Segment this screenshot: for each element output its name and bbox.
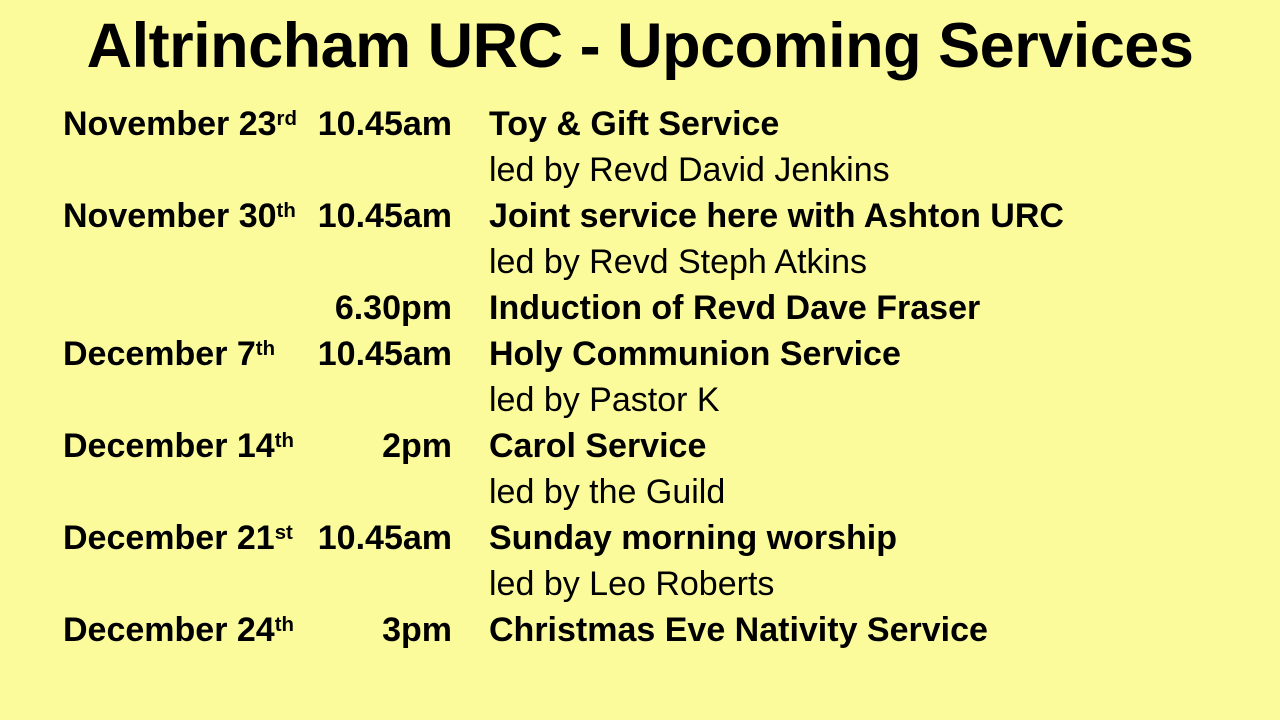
service-details: Carol Serviceled by the Guild: [452, 423, 1280, 515]
service-row: December 7th10.45amHoly Communion Servic…: [0, 331, 1280, 423]
service-date-ordinal: th: [256, 338, 275, 360]
service-row: December 14th2pmCarol Serviceled by the …: [0, 423, 1280, 515]
service-row: December 24th3pmChristmas Eve Nativity S…: [0, 607, 1280, 658]
service-date-ordinal: th: [277, 200, 296, 222]
service-details: Holy Communion Serviceled by Pastor K: [452, 331, 1280, 423]
service-name: Induction of Revd Dave Fraser: [489, 285, 1280, 331]
service-date: December 21st: [0, 515, 300, 566]
service-details: Joint service here with Ashton URCled by…: [452, 193, 1280, 285]
service-row: November 30th10.45amJoint service here w…: [0, 193, 1280, 285]
service-row: 6.30pmInduction of Revd Dave Fraser: [0, 285, 1280, 331]
service-date: December 14th: [0, 423, 300, 474]
service-date: November 30th: [0, 193, 300, 244]
service-date-ordinal: th: [275, 614, 294, 636]
service-time: 10.45am: [300, 193, 452, 239]
service-date: November 23rd: [0, 101, 300, 152]
service-date: December 24th: [0, 607, 300, 658]
service-date-ordinal: st: [275, 522, 293, 544]
service-name: Sunday morning worship: [489, 515, 1280, 561]
service-name: Holy Communion Service: [489, 331, 1280, 377]
service-date-text: December 14: [63, 427, 275, 465]
service-name: Carol Service: [489, 423, 1280, 469]
service-date-ordinal: th: [275, 430, 294, 452]
page-title: Altrincham URC - Upcoming Services: [0, 8, 1280, 84]
service-details: Sunday morning worshipled by Leo Roberts: [452, 515, 1280, 607]
service-details: Induction of Revd Dave Fraser: [452, 285, 1280, 331]
service-date-text: December 21: [63, 519, 275, 557]
service-date-text: December 24: [63, 611, 275, 649]
service-time: 10.45am: [300, 331, 452, 377]
service-leader: led by Revd David Jenkins: [489, 147, 1280, 193]
service-time: 10.45am: [300, 101, 452, 147]
service-name: Joint service here with Ashton URC: [489, 193, 1280, 239]
service-date-text: November 23: [63, 105, 277, 143]
service-date-text: December 7: [63, 335, 256, 373]
service-leader: led by Revd Steph Atkins: [489, 239, 1280, 285]
service-row: November 23rd10.45amToy & Gift Servicele…: [0, 101, 1280, 193]
service-leader: led by the Guild: [489, 469, 1280, 515]
service-date: December 7th: [0, 331, 300, 382]
service-date-text: November 30: [63, 197, 277, 235]
service-time: 6.30pm: [300, 285, 452, 331]
service-time: 2pm: [300, 423, 452, 469]
service-time: 10.45am: [300, 515, 452, 561]
service-name: Toy & Gift Service: [489, 101, 1280, 147]
service-name: Christmas Eve Nativity Service: [489, 607, 1280, 653]
service-details: Toy & Gift Serviceled by Revd David Jenk…: [452, 101, 1280, 193]
service-time: 3pm: [300, 607, 452, 653]
service-date-ordinal: rd: [277, 108, 297, 130]
service-leader: led by Leo Roberts: [489, 561, 1280, 607]
service-row: December 21st10.45amSunday morning worsh…: [0, 515, 1280, 607]
service-details: Christmas Eve Nativity Service: [452, 607, 1280, 653]
slide-canvas: Altrincham URC - Upcoming Services Novem…: [0, 0, 1280, 720]
service-leader: led by Pastor K: [489, 377, 1280, 423]
services-schedule-list: November 23rd10.45amToy & Gift Servicele…: [0, 101, 1280, 658]
